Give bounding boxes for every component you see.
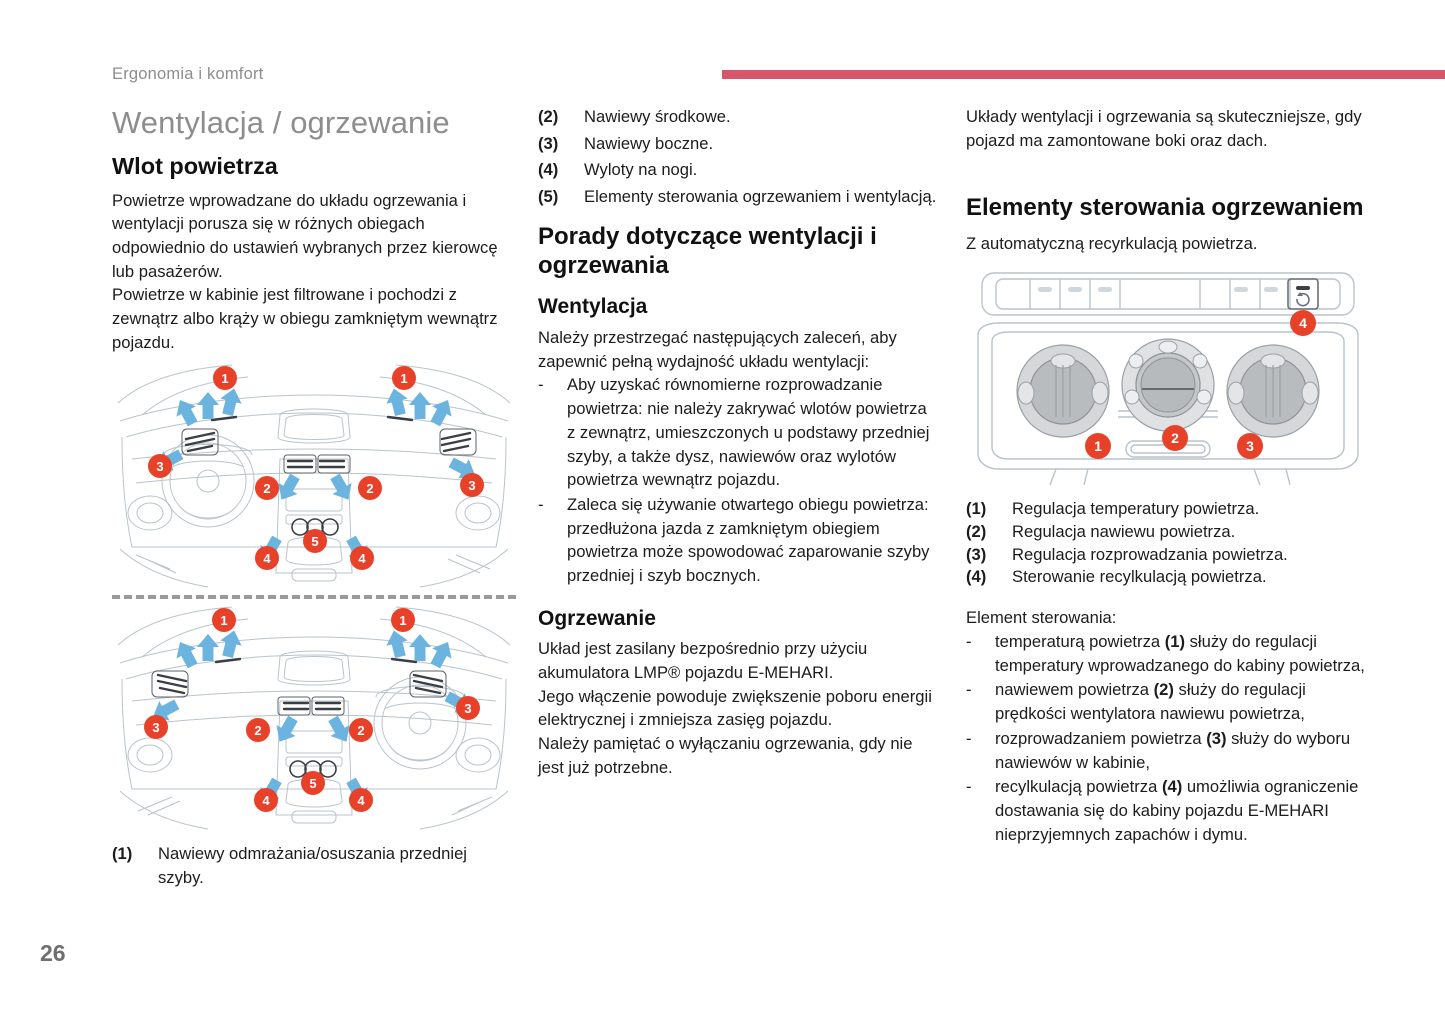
caption-list-left: (1) Nawiewy odmrażania/osuszania przedni… xyxy=(112,842,516,889)
svg-text:1: 1 xyxy=(400,371,407,386)
paragraph-heating-3: Należy pamiętać o wyłączaniu ogrzewania,… xyxy=(538,732,938,779)
svg-text:3: 3 xyxy=(156,459,163,474)
controls-bullet-list: - temperaturą powietrza (1) służy do reg… xyxy=(966,630,1366,846)
list-item: (1) Nawiewy odmrażania/osuszania przedni… xyxy=(112,842,516,889)
dash-bullet: - xyxy=(538,373,567,492)
ref-number: (2) xyxy=(966,521,1012,544)
dash-bullet: - xyxy=(966,727,995,774)
list-item: (4) Sterowanie recylkulacją powietrza. xyxy=(966,566,1366,589)
figure-climate-control-panel: 4 1 2 3 xyxy=(966,265,1370,489)
list-item: (5) Elementy sterowania ogrzewaniem i we… xyxy=(538,185,938,209)
paragraph-controls-sub: Z automatyczną recyrkulacją powietrza. xyxy=(966,232,1366,256)
paragraph-air-intake-2: Powietrze w kabinie jest filtrowane i po… xyxy=(112,283,516,354)
svg-text:3: 3 xyxy=(464,701,471,716)
bullet-text: Zaleca się używanie otwartego obiegu pow… xyxy=(567,493,938,588)
list-item: (2) Regulacja nawiewu powietrza. xyxy=(966,521,1366,544)
section-heading-air-intake: Wlot powietrza xyxy=(112,152,516,180)
paragraph-heating-2: Jego włączenie powoduje zwiększenie pobo… xyxy=(538,685,938,732)
list-item: (1) Regulacja temperatury powietrza. xyxy=(966,498,1366,521)
svg-text:3: 3 xyxy=(152,720,159,735)
ref-text: Wyloty na nogi. xyxy=(584,158,938,182)
svg-text:4: 4 xyxy=(357,793,365,808)
svg-text:5: 5 xyxy=(311,534,318,549)
paragraph-heating-1: Układ jest zasilany bezpośrednio przy uż… xyxy=(538,637,938,684)
page-title: Wentylacja / ogrzewanie xyxy=(112,105,516,142)
reference-list-vents: (2) Nawiewy środkowe. (3) Nawiewy boczne… xyxy=(538,105,938,209)
ref-text: Elementy sterowania ogrzewaniem i wentyl… xyxy=(584,185,938,209)
dash-bullet: - xyxy=(966,678,995,725)
distribution-knob xyxy=(1227,345,1319,437)
bullet-text: temperaturą powietrza (1) służy do regul… xyxy=(995,630,1366,677)
list-item: (3) Regulacja rozprowadzania powietrza. xyxy=(966,544,1366,567)
blower-knob xyxy=(1122,339,1214,431)
ref-number: (1) xyxy=(112,842,158,889)
section-heading-heating-controls: Elementy sterowania ogrzewaniem xyxy=(966,194,1366,223)
svg-text:2: 2 xyxy=(1171,430,1179,446)
ref-text: Nawiewy boczne. xyxy=(584,132,938,156)
ref-text: Nawiewy odmrażania/osuszania przedniej s… xyxy=(158,842,516,889)
svg-text:1: 1 xyxy=(399,613,406,628)
paragraph-air-intake-1: Powietrze wprowadzane do układu ogrzewan… xyxy=(112,189,516,284)
ref-text: Regulacja nawiewu powietrza. xyxy=(1012,521,1366,544)
figure-separator xyxy=(112,595,516,599)
svg-text:4: 4 xyxy=(263,551,271,566)
list-item: - Aby uzyskać równomierne rozprowadzanie… xyxy=(538,373,938,492)
section-heading-heating: Ogrzewanie xyxy=(538,606,938,632)
bullet-text: nawiewem powietrza (2) służy do regulacj… xyxy=(995,678,1366,725)
bullet-text: Aby uzyskać równomierne rozprowadzanie p… xyxy=(567,373,938,492)
temperature-knob xyxy=(1017,345,1109,437)
list-item: - Zaleca się używanie otwartego obiegu p… xyxy=(538,493,938,588)
svg-text:3: 3 xyxy=(1246,438,1254,454)
ref-text: Regulacja rozprowadzania powietrza. xyxy=(1012,544,1366,567)
ventilation-bullet-list: - Aby uzyskać równomierne rozprowadzanie… xyxy=(538,373,938,587)
list-item: - temperaturą powietrza (1) służy do reg… xyxy=(966,630,1366,677)
list-item: (2) Nawiewy środkowe. xyxy=(538,105,938,129)
ref-number: (1) xyxy=(966,498,1012,521)
list-item: - nawiewem powietrza (2) służy do regula… xyxy=(966,678,1366,725)
ref-text: Regulacja temperatury powietrza. xyxy=(1012,498,1366,521)
svg-text:4: 4 xyxy=(262,793,270,808)
list-item: - recylkulacją powietrza (4) umożliwia o… xyxy=(966,775,1366,846)
list-item: - rozprowadzaniem powietrza (3) służy do… xyxy=(966,727,1366,774)
figure-dashboard-lhd: 1 1 3 3 2 2 5 4 4 xyxy=(112,363,516,591)
reference-list-controls: (1) Regulacja temperatury powietrza. (2)… xyxy=(966,498,1366,590)
ref-number: (2) xyxy=(538,105,584,129)
ref-number: (4) xyxy=(538,158,584,182)
ref-number: (3) xyxy=(538,132,584,156)
bullet-text: rozprowadzaniem powietrza (3) służy do w… xyxy=(995,727,1366,774)
dash-bullet: - xyxy=(538,493,567,588)
ref-text: Sterowanie recylkulacją powietrza. xyxy=(1012,566,1366,589)
column-right: Układy wentylacji i ogrzewania są skutec… xyxy=(966,105,1366,847)
svg-text:1: 1 xyxy=(220,613,227,628)
page-number: 26 xyxy=(40,940,66,967)
section-heading-tips: Porady dotyczące wentylacji i ogrzewania xyxy=(538,223,938,281)
svg-text:2: 2 xyxy=(366,481,373,496)
svg-text:2: 2 xyxy=(357,723,364,738)
svg-text:4: 4 xyxy=(1299,315,1307,331)
ref-number: (5) xyxy=(538,185,584,209)
label-element-sterowania: Element sterowania: xyxy=(966,606,1366,630)
figure-dashboard-rhd: 1 1 3 3 2 2 5 4 4 xyxy=(112,605,516,833)
svg-text:3: 3 xyxy=(468,478,475,493)
svg-text:2: 2 xyxy=(263,481,270,496)
column-left: Wentylacja / ogrzewanie Wlot powietrza P… xyxy=(112,105,516,893)
recirculation-button xyxy=(1288,279,1318,309)
column-middle: (2) Nawiewy środkowe. (3) Nawiewy boczne… xyxy=(538,105,938,779)
svg-text:1: 1 xyxy=(221,371,228,386)
paragraph-systems-intro: Układy wentylacji i ogrzewania są skutec… xyxy=(966,105,1366,152)
ref-number: (4) xyxy=(966,566,1012,589)
svg-text:2: 2 xyxy=(254,723,261,738)
list-item: (4) Wyloty na nogi. xyxy=(538,158,938,182)
manual-page: Ergonomia i komfort Wentylacja / ogrzewa… xyxy=(0,0,1445,1019)
svg-text:4: 4 xyxy=(358,551,366,566)
svg-text:1: 1 xyxy=(1094,438,1102,454)
ref-number: (3) xyxy=(966,544,1012,567)
paragraph-ventilation-intro: Należy przestrzegać następujących zalece… xyxy=(538,326,938,373)
header-accent-bar xyxy=(722,70,1445,79)
breadcrumb: Ergonomia i komfort xyxy=(112,65,263,84)
dash-bullet: - xyxy=(966,775,995,846)
bullet-text: recylkulacją powietrza (4) umożliwia ogr… xyxy=(995,775,1366,846)
list-item: (3) Nawiewy boczne. xyxy=(538,132,938,156)
svg-text:5: 5 xyxy=(309,776,316,791)
section-heading-ventilation: Wentylacja xyxy=(538,294,938,320)
ref-text: Nawiewy środkowe. xyxy=(584,105,938,129)
dash-bullet: - xyxy=(966,630,995,677)
